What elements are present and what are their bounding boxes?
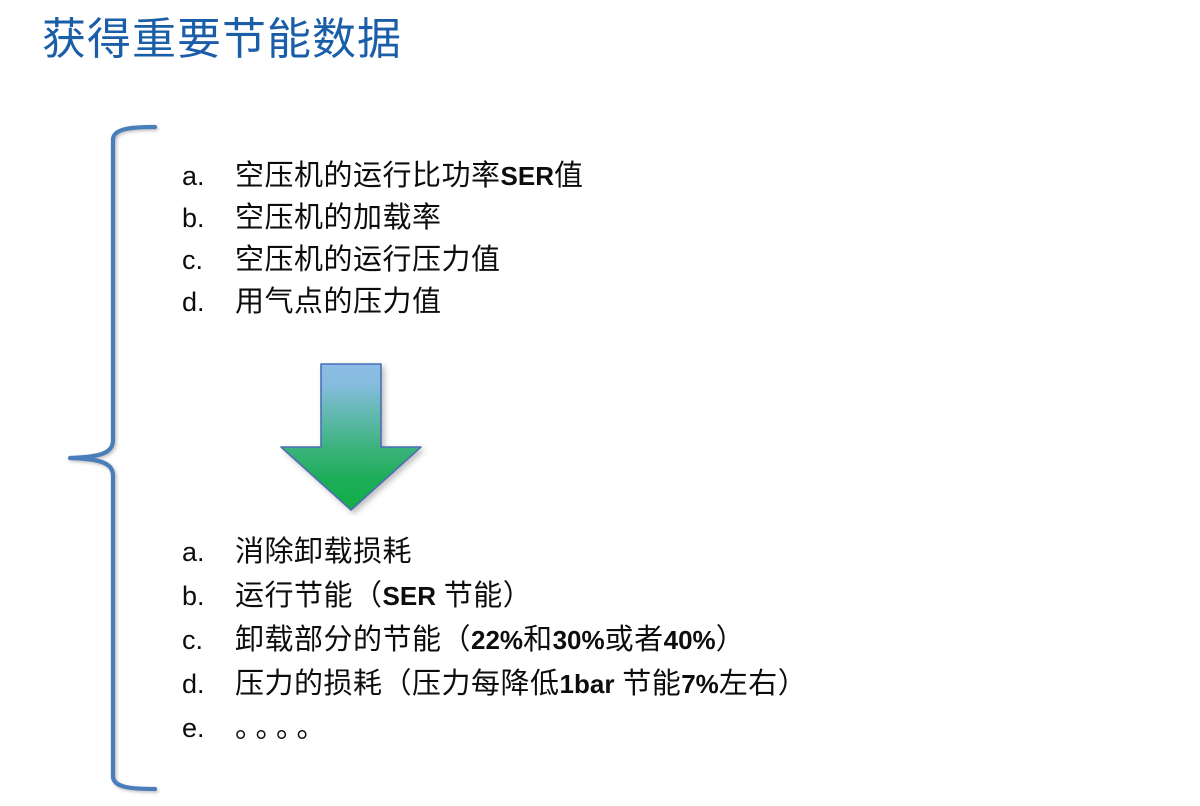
list-marker: d. — [182, 669, 235, 700]
list-item: d. 用气点的压力值 — [182, 278, 584, 320]
list-item: d. 压力的损耗（压力每降低1bar 节能7%左右） — [182, 660, 807, 704]
list-marker: a. — [182, 537, 235, 568]
list-item: b. 空压机的加载率 — [182, 194, 584, 236]
list-marker: a. — [182, 161, 235, 192]
list-item: a. 空压机的运行比功率SER值 — [182, 152, 584, 194]
page-title: 获得重要节能数据 — [42, 14, 402, 66]
list-item-text: 用气点的压力值 — [235, 278, 442, 320]
list-item-text: 空压机的运行比功率SER值 — [235, 152, 584, 194]
list-marker: d. — [182, 287, 235, 318]
list-item-text: 空压机的运行压力值 — [235, 236, 501, 278]
list-item-text: 压力的损耗（压力每降低1bar 节能7%左右） — [235, 660, 807, 702]
list-marker: b. — [182, 581, 235, 612]
list-item: b. 运行节能（SER 节能） — [182, 572, 807, 616]
slide-canvas: 获得重要节能数据 a. 空压机的运行比功率SER值 b. 空压机的加载率 c. … — [0, 0, 1200, 806]
list-item-text: 运行节能（SER 节能） — [235, 572, 532, 614]
down-arrow-icon — [276, 358, 436, 516]
list-marker: c. — [182, 625, 235, 656]
list-item-text: 消除卸载损耗 — [235, 528, 412, 570]
lower-savings-list: a. 消除卸载损耗 b. 运行节能（SER 节能） c. 卸载部分的节能（22%… — [182, 528, 807, 748]
list-item: c. 卸载部分的节能（22%和30%或者40%） — [182, 616, 807, 660]
list-item-text: 卸载部分的节能（22%和30%或者40%） — [235, 616, 745, 658]
list-item: a. 消除卸载损耗 — [182, 528, 807, 572]
list-item: c. 空压机的运行压力值 — [182, 236, 584, 278]
list-marker: c. — [182, 245, 235, 276]
list-item: e. 。。。。 — [182, 704, 807, 748]
list-item-text: 空压机的加载率 — [235, 194, 442, 236]
list-marker: e. — [182, 713, 235, 744]
list-marker: b. — [182, 203, 235, 234]
left-curly-brace — [55, 105, 175, 805]
upper-requirements-list: a. 空压机的运行比功率SER值 b. 空压机的加载率 c. 空压机的运行压力值… — [182, 152, 584, 320]
list-item-text: 。。。。 — [235, 704, 332, 746]
